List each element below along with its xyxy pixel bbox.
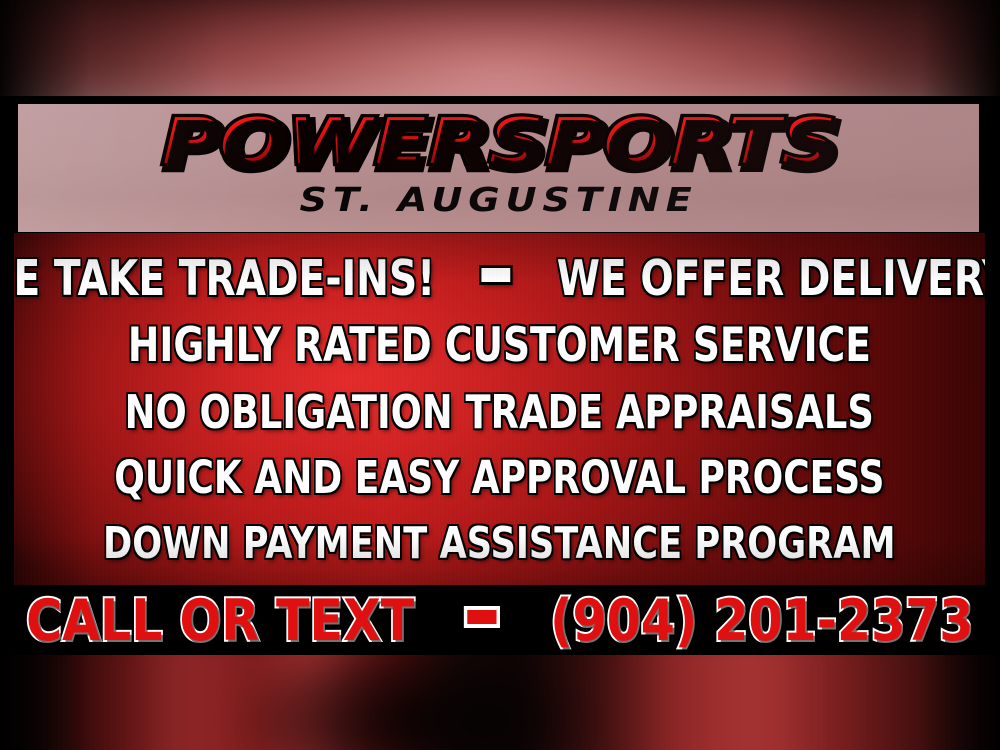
powersports-ad-poster: POWERSPORTS POWERSPORTS ST. AUGUSTINE WE… <box>0 0 1000 750</box>
cta-phone-number[interactable]: (904) 201-2373 <box>550 589 973 653</box>
features-list: WE TAKE TRADE-INS! WE OFFER DELIVERY! HI… <box>14 233 985 585</box>
brand-location: ST. AUGUSTINE <box>18 180 979 220</box>
brand-logo-plate: POWERSPORTS POWERSPORTS ST. AUGUSTINE <box>18 104 979 232</box>
feature-line-3: NO OBLIGATION TRADE APPRAISALS <box>125 379 874 445</box>
brand-name: POWERSPORTS <box>18 104 979 181</box>
backdrop-bottom <box>0 655 1000 750</box>
feature-line-2: HIGHLY RATED CUSTOMER SERVICE <box>128 313 871 379</box>
cta-bar: CALL OR TEXT (904) 201-2373 <box>0 585 1000 657</box>
feature-line-4: QUICK AND EASY APPROVAL PROCESS <box>114 445 884 511</box>
feature-line-1: WE TAKE TRADE-INS! WE OFFER DELIVERY! <box>14 245 985 313</box>
backdrop-bottom-blur <box>0 655 1000 750</box>
cta-separator-icon <box>468 610 497 624</box>
feature-line-1-left: WE TAKE TRADE-INS! <box>14 245 435 313</box>
feature-line-5: DOWN PAYMENT ASSISTANCE PROGRAM <box>103 511 895 577</box>
features-panel: WE TAKE TRADE-INS! WE OFFER DELIVERY! HI… <box>14 233 985 585</box>
feature-line-1-right: WE OFFER DELIVERY! <box>557 245 985 313</box>
feature-line-1-separator-icon <box>482 268 511 282</box>
cta-action-label: CALL OR TEXT <box>26 589 414 653</box>
backdrop-top <box>0 0 1000 100</box>
cta-inner: CALL OR TEXT (904) 201-2373 <box>26 589 973 653</box>
backdrop-top-blur <box>0 0 1000 100</box>
